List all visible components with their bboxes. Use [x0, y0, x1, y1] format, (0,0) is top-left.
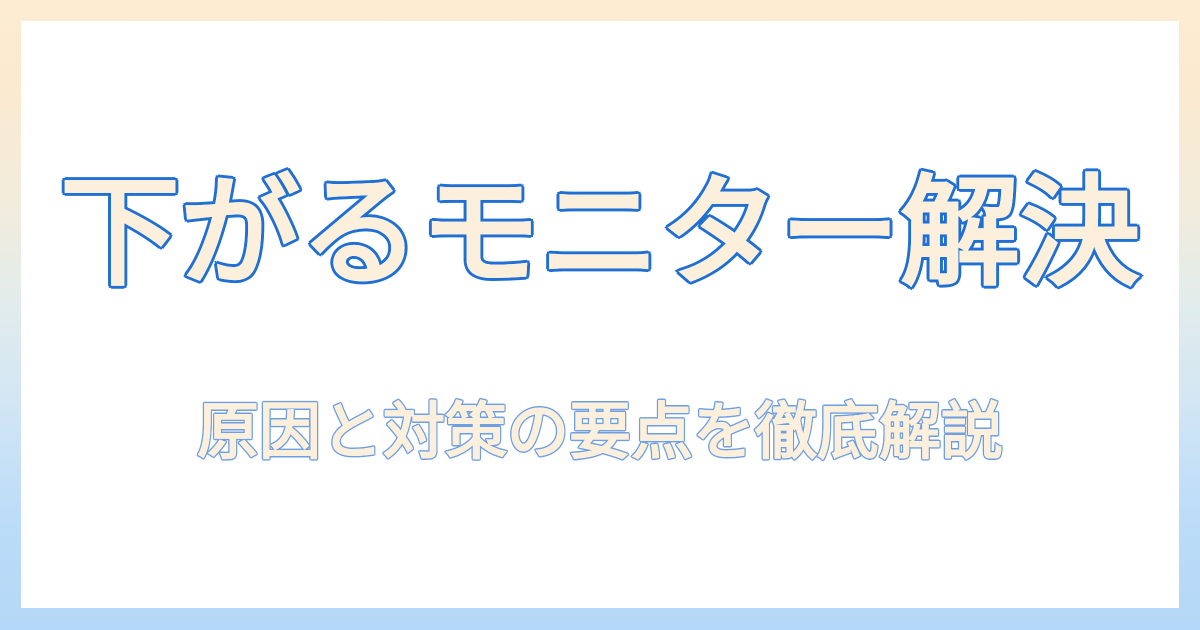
page-title-stroke-layer: 下がるモニター解決 [60, 164, 1140, 303]
eyecatch-card: 下がるモニター解決 下がるモニター解決 原因と対策の要点を徹底解説 原因と対策の… [0, 0, 1200, 630]
inner-white-canvas: 下がるモニター解決 下がるモニター解決 原因と対策の要点を徹底解説 原因と対策の… [21, 21, 1179, 608]
page-title: 下がるモニター解決 下がるモニター解決 [21, 167, 1179, 301]
page-subtitle: 原因と対策の要点を徹底解説 原因と対策の要点を徹底解説 [21, 396, 1179, 467]
page-subtitle-stroke-layer: 原因と対策の要点を徹底解説 [197, 395, 1003, 468]
